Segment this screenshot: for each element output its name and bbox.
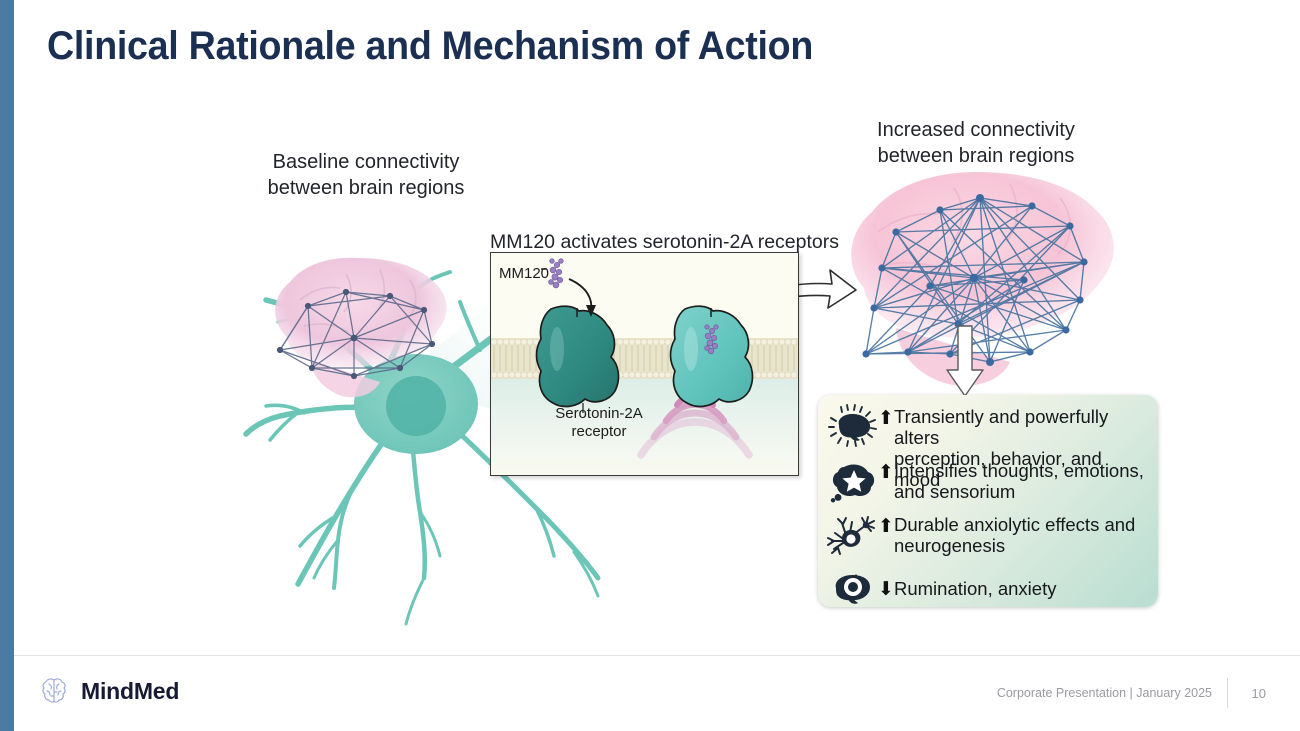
receptor-diagram-box: MM120 Serotonin-2A receptor (490, 252, 799, 476)
effect-text-line2: and sensorium (894, 481, 1015, 502)
footer-meta: Corporate Presentation | January 2025 (997, 686, 1212, 700)
serotonin-receptor-label-line2: receptor (529, 423, 669, 441)
arrow-up-icon: ⬆ (878, 515, 894, 537)
thought-bubble-star-icon (826, 461, 878, 501)
effect-text: Rumination, anxiety (894, 579, 1056, 600)
effect-text: Intensifies thoughts, emotions, and sens… (894, 461, 1144, 503)
effect-text: Durable anxiolytic effects and neurogene… (894, 515, 1135, 557)
left-accent-bar (0, 0, 14, 731)
arrow-up-icon: ⬆ (878, 407, 894, 429)
footer-meta-divider (1227, 678, 1228, 708)
effects-panel: ⬆ Transiently and powerfully alters perc… (818, 395, 1158, 607)
effect-text-line1: Transiently and powerfully alters (894, 406, 1108, 448)
inset-title: MM120 activates serotonin-2A receptors (490, 231, 810, 254)
effect-text-line1: Durable anxiolytic effects and (894, 514, 1135, 535)
serotonin-receptor-label-line1: Serotonin-2A (529, 405, 669, 423)
slide-canvas: Clinical Rationale and Mechanism of Acti… (0, 0, 1300, 731)
serotonin-receptor-label: Serotonin-2A receptor (529, 405, 669, 441)
brand-name: MindMed (81, 678, 179, 705)
footer-divider (14, 655, 1300, 656)
mm120-label: MM120 (499, 265, 549, 282)
brain-burst-icon (826, 407, 878, 447)
slide-body: Baseline connectivity between brain regi… (14, 88, 1300, 654)
receptor-diagram-graphic (491, 253, 798, 475)
effect-text-line2: neurogenesis (894, 535, 1005, 556)
list-item: ⬇ Rumination, anxiety (826, 569, 1152, 609)
arrow-to-effects-icon (942, 326, 988, 398)
caption-increased-line1: Increased connectivity (844, 118, 1108, 144)
arrow-up-icon: ⬆ (878, 461, 894, 483)
page-number: 10 (1252, 686, 1266, 701)
caption-baseline: Baseline connectivity between brain regi… (246, 150, 486, 201)
list-item: ⬆ Durable anxiolytic effects and neuroge… (826, 515, 1152, 557)
effect-text-line1: Rumination, anxiety (894, 578, 1056, 599)
brain-baseline-connectivity (250, 240, 466, 420)
caption-baseline-line1: Baseline connectivity (246, 150, 486, 176)
list-item: ⬆ Intensifies thoughts, emotions, and se… (826, 461, 1152, 503)
brain-outline-icon (38, 675, 70, 707)
effect-text-line1: Intensifies thoughts, emotions, (894, 460, 1144, 481)
caption-baseline-line2: between brain regions (246, 176, 486, 202)
arrow-down-icon: ⬇ (878, 578, 894, 600)
neuron-icon (826, 515, 878, 555)
brand-logo: MindMed (38, 675, 179, 707)
brain-cycle-icon (826, 569, 878, 609)
page-title: Clinical Rationale and Mechanism of Acti… (47, 24, 813, 69)
